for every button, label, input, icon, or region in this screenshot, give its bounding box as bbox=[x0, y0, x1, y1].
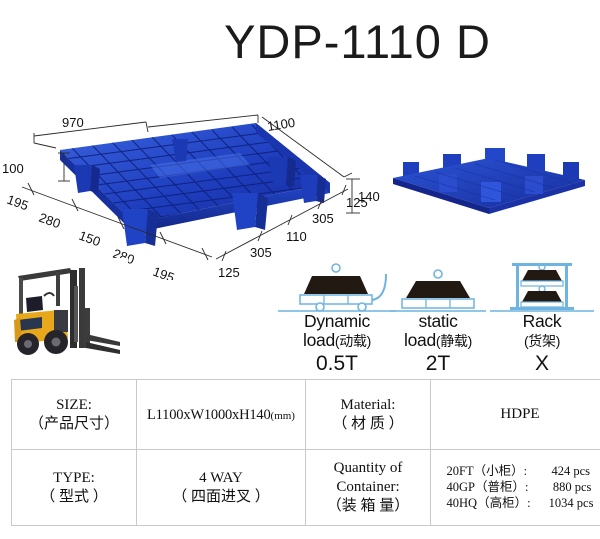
size-label-cn: （产品尺寸） bbox=[14, 415, 134, 434]
container-unit: pcs bbox=[574, 496, 594, 510]
dim-width-top: 970 bbox=[62, 115, 84, 130]
container-quantity-row: 40GP（普柜）: 880 pcs bbox=[447, 479, 594, 495]
container-unit: pcs bbox=[570, 464, 590, 478]
cell-material-value: HDPE bbox=[431, 380, 600, 450]
dynamic-load-label-line1: Dynamic bbox=[278, 312, 396, 331]
dim-side-4: 305 bbox=[312, 211, 334, 226]
dim-left-height: 100 bbox=[2, 161, 24, 176]
container-quantity-list: 20FT（小柜）: 424 pcs40GP（普柜）: 880 pcs40HQ（高… bbox=[447, 463, 594, 511]
page-title: YDP-1110 D bbox=[0, 14, 600, 69]
static-load-label-line2: load(静载) bbox=[390, 331, 486, 351]
container-code: 40HQ（高柜）: bbox=[447, 496, 534, 510]
cell-material-label: Material: （ 材 质 ） bbox=[306, 380, 431, 450]
container-code: 40GP（普柜）: bbox=[447, 480, 532, 494]
table-row-type-container: TYPE: （ 型式 ） 4 WAY （ 四面进叉 ） Quantity of … bbox=[12, 450, 600, 526]
cell-type-label: TYPE: （ 型式 ） bbox=[12, 450, 137, 526]
dynamic-load-value: 0.5T bbox=[278, 352, 396, 375]
static-load-value: 2T bbox=[390, 352, 486, 375]
forklift-seat bbox=[26, 296, 43, 312]
dynamic-load-cell: Dynamic load(动载) 0.5T bbox=[278, 262, 396, 375]
pallet-top-perspective: 970 1100 100 140 195 280 150 280 195 125… bbox=[0, 105, 392, 280]
container-code: 20FT（小柜）: bbox=[447, 464, 531, 478]
static-pallet-load-icon bbox=[390, 262, 486, 312]
type-value-cn: （ 四面进叉 ） bbox=[139, 488, 303, 507]
static-load-label-line1: static bbox=[390, 312, 486, 331]
rack-load-value: X bbox=[490, 352, 594, 375]
container-qty: 1034 bbox=[534, 495, 574, 511]
forklift-engine-cover bbox=[54, 310, 68, 332]
cell-container-label: Quantity of Container: （装 箱 量） bbox=[306, 450, 431, 526]
product-spec-sheet: YDP-1110 D bbox=[0, 0, 600, 539]
container-qty: 424 bbox=[530, 463, 570, 479]
cell-type-value: 4 WAY （ 四面进叉 ） bbox=[137, 450, 306, 526]
size-unit: (mm) bbox=[271, 410, 295, 422]
cell-size-label: SIZE: （产品尺寸） bbox=[12, 380, 137, 450]
dim-front-3: 150 bbox=[77, 228, 103, 250]
container-quantity-row: 40HQ（高柜）: 1034 pcs bbox=[447, 495, 594, 511]
size-value: L1100xW1000xH140 bbox=[147, 407, 271, 423]
table-row-size-material: SIZE: （产品尺寸） L1100xW1000xH140(mm) Materi… bbox=[12, 380, 600, 450]
dim-side-3: 110 bbox=[286, 229, 307, 244]
load-capability-row: Dynamic load(动载) 0.5T static load(静载) 2T bbox=[278, 262, 594, 374]
container-label-line1: Quantity of bbox=[308, 459, 428, 478]
dim-side-2: 305 bbox=[250, 245, 272, 260]
forklift-photo bbox=[8, 258, 128, 376]
dim-front-2: 280 bbox=[37, 210, 63, 232]
dim-front-1: 195 bbox=[5, 192, 31, 214]
dim-length-top: 1100 bbox=[266, 115, 296, 134]
forklift-carriage bbox=[84, 308, 90, 348]
type-label-cn: （ 型式 ） bbox=[14, 488, 134, 507]
container-label-cn: （装 箱 量） bbox=[308, 497, 428, 516]
material-value: HDPE bbox=[500, 406, 539, 422]
material-label-en: Material: bbox=[308, 396, 428, 415]
type-value-en: 4 WAY bbox=[139, 469, 303, 488]
rack-load-cell: Rack (货架) X bbox=[490, 262, 594, 375]
container-label-line2: Container: bbox=[308, 478, 428, 497]
pallet-truck-load-icon bbox=[278, 262, 396, 312]
cell-container-value: 20FT（小柜）: 424 pcs40GP（普柜）: 880 pcs40HQ（高… bbox=[431, 450, 600, 526]
cell-size-value: L1100xW1000xH140(mm) bbox=[137, 380, 306, 450]
dim-side-5: 125 bbox=[346, 195, 368, 210]
dim-front-5: 195 bbox=[151, 264, 177, 280]
container-quantity-row: 20FT（小柜）: 424 pcs bbox=[447, 463, 594, 479]
pallet-underside-perspective bbox=[385, 130, 590, 225]
container-qty: 880 bbox=[532, 479, 572, 495]
rack-load-label-line1: Rack bbox=[490, 312, 594, 331]
dim-side-1: 125 bbox=[218, 265, 240, 280]
rack-load-label-line2: (货架) bbox=[490, 331, 594, 351]
size-label-en: SIZE: bbox=[14, 396, 134, 415]
specification-table: SIZE: （产品尺寸） L1100xW1000xH140(mm) Materi… bbox=[11, 379, 600, 526]
dynamic-load-label-line2: load(动载) bbox=[278, 331, 396, 351]
rack-load-icon bbox=[490, 262, 594, 312]
container-unit: pcs bbox=[572, 480, 592, 494]
type-label-en: TYPE: bbox=[14, 469, 134, 488]
material-label-cn: （ 材 质 ） bbox=[308, 415, 428, 434]
static-load-cell: static load(静载) 2T bbox=[390, 262, 486, 375]
diagram-area: 970 1100 100 140 195 280 150 280 195 125… bbox=[0, 105, 600, 280]
